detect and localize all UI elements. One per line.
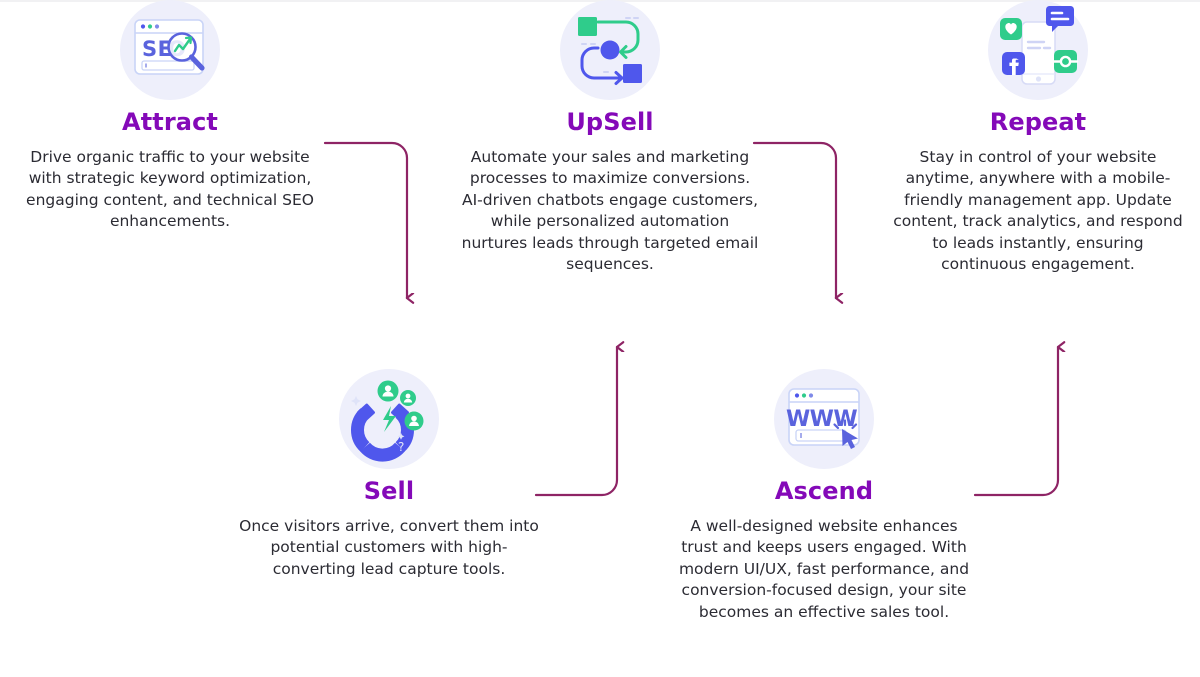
mobile-social-engagement-icon bbox=[988, 0, 1088, 100]
flow-diagram-canvas: SE O Attract Drive organic traffic to yo… bbox=[0, 0, 1200, 677]
step-attract-title: Attract bbox=[20, 107, 320, 137]
step-sell-description: Once visitors arrive, convert them into … bbox=[239, 516, 539, 580]
step-repeat-description: Stay in control of your website anytime,… bbox=[888, 147, 1188, 275]
step-sell: ? Sell Once visitors arrive, convert the… bbox=[239, 369, 539, 580]
step-repeat-icon-wrap bbox=[988, 0, 1088, 100]
step-sell-icon-wrap: ? bbox=[339, 369, 439, 469]
step-upsell: UpSell Automate your sales and marketing… bbox=[460, 0, 760, 275]
svg-text:?: ? bbox=[398, 440, 404, 454]
step-ascend-icon-wrap: WWW bbox=[774, 369, 874, 469]
connector-ascend-to-repeat bbox=[975, 347, 1058, 495]
step-attract-icon-wrap: SE O bbox=[120, 0, 220, 100]
connector-attract-to-sell bbox=[325, 143, 407, 298]
step-upsell-title: UpSell bbox=[460, 107, 760, 137]
step-repeat: Repeat Stay in control of your website a… bbox=[888, 0, 1188, 275]
step-ascend-title: Ascend bbox=[674, 476, 974, 506]
svg-text:WWW: WWW bbox=[786, 407, 857, 432]
step-attract: SE O Attract Drive organic traffic to yo… bbox=[20, 0, 320, 233]
step-attract-description: Drive organic traffic to your website wi… bbox=[20, 147, 320, 233]
step-repeat-title: Repeat bbox=[888, 107, 1188, 137]
seo-browser-magnifier-icon: SE O bbox=[120, 0, 220, 100]
step-ascend-description: A well-designed website enhances trust a… bbox=[674, 516, 974, 623]
step-sell-title: Sell bbox=[239, 476, 539, 506]
step-upsell-icon-wrap bbox=[560, 0, 660, 100]
connector-sell-to-upsell bbox=[536, 347, 617, 495]
www-website-click-icon: WWW bbox=[774, 369, 874, 469]
step-ascend: WWW Ascend A well-designed website enhan… bbox=[674, 369, 974, 623]
step-upsell-description: Automate your sales and marketing proces… bbox=[460, 147, 760, 275]
automation-workflow-icon bbox=[560, 0, 660, 100]
connector-upsell-to-ascend bbox=[754, 143, 836, 298]
magnet-lead-capture-icon: ? bbox=[339, 369, 439, 469]
